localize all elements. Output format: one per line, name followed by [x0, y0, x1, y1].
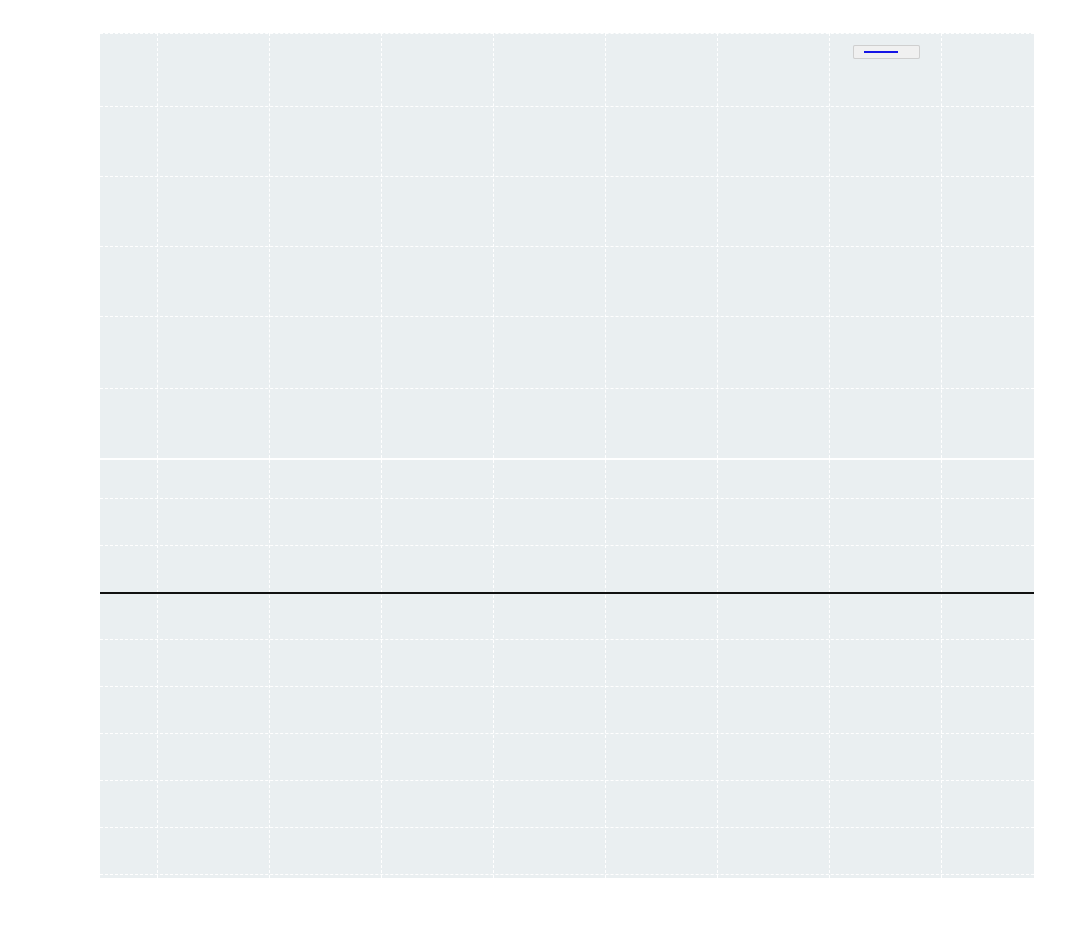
- gridline-v: [941, 460, 942, 878]
- chart-canvas: [0, 0, 1067, 942]
- gridline-v: [493, 460, 494, 878]
- legend-box[interactable]: [853, 45, 920, 59]
- cme-series-line: [100, 33, 1034, 458]
- gridline-h: [100, 827, 1034, 828]
- zero-baseline: [100, 592, 1034, 594]
- gridline-v: [269, 460, 270, 878]
- gridline-h: [100, 498, 1034, 499]
- gridline-v: [605, 460, 606, 878]
- gridline-h: [100, 686, 1034, 687]
- gridline-v: [381, 460, 382, 878]
- gridline-h: [100, 733, 1034, 734]
- gridline-h: [100, 874, 1034, 875]
- gridline-h: [100, 639, 1034, 640]
- top-plot-area: [100, 33, 1034, 458]
- gridline-v: [157, 460, 158, 878]
- gridline-h: [100, 545, 1034, 546]
- gridline-v: [829, 460, 830, 878]
- legend-line-icon: [864, 51, 898, 53]
- gridline-h: [100, 780, 1034, 781]
- gridline-v: [717, 460, 718, 878]
- bottom-plot-area: [100, 460, 1034, 878]
